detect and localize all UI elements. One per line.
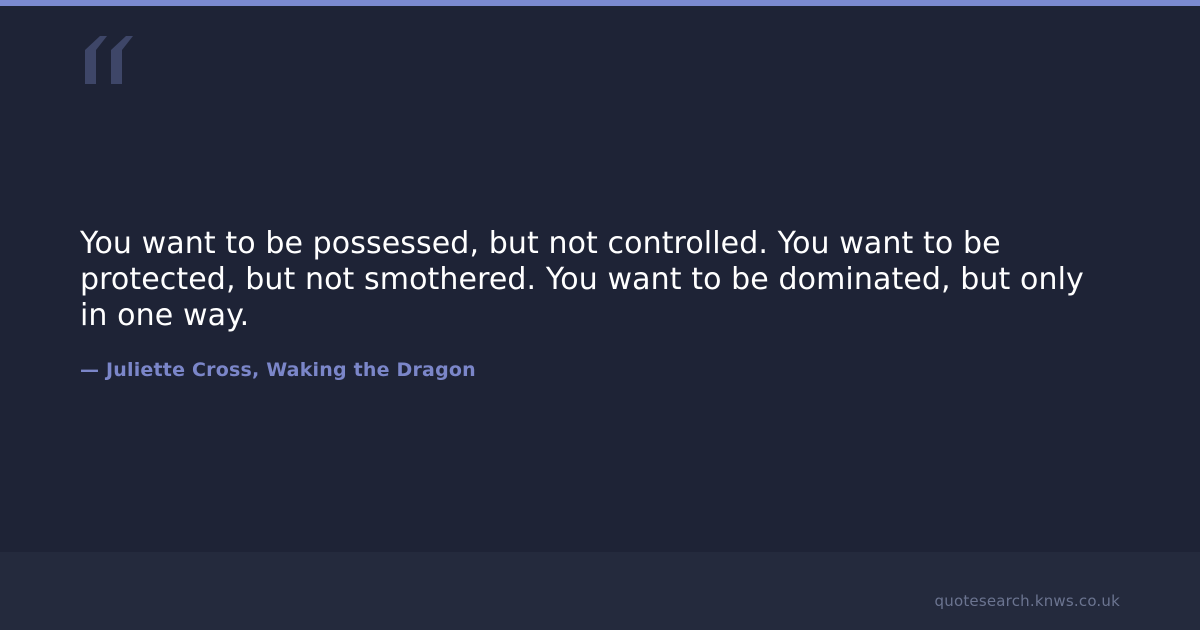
open-quote-icon bbox=[80, 36, 136, 84]
card-content: You want to be possessed, but not contro… bbox=[0, 0, 1200, 630]
quote-attribution: — Juliette Cross, Waking the Dragon bbox=[80, 357, 476, 383]
site-watermark: quotesearch.knws.co.uk bbox=[935, 591, 1120, 611]
quote-text: You want to be possessed, but not contro… bbox=[80, 226, 1100, 334]
quote-card: You want to be possessed, but not contro… bbox=[0, 0, 1200, 630]
